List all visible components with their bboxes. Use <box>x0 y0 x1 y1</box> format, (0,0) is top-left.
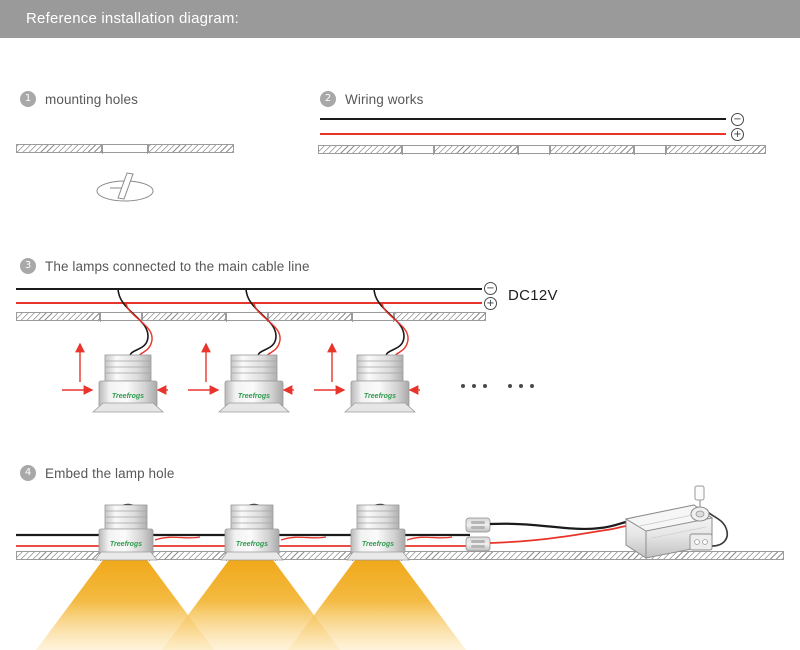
connector-block <box>466 518 490 532</box>
power-supply-group <box>0 0 800 650</box>
connector-block <box>466 537 490 551</box>
diagram-canvas: Reference installation diagram: 1 mounti… <box>0 0 800 650</box>
driver-wire-negative <box>490 522 626 529</box>
driver-wire-positive <box>490 526 626 543</box>
mains-plug-icon <box>691 486 709 521</box>
